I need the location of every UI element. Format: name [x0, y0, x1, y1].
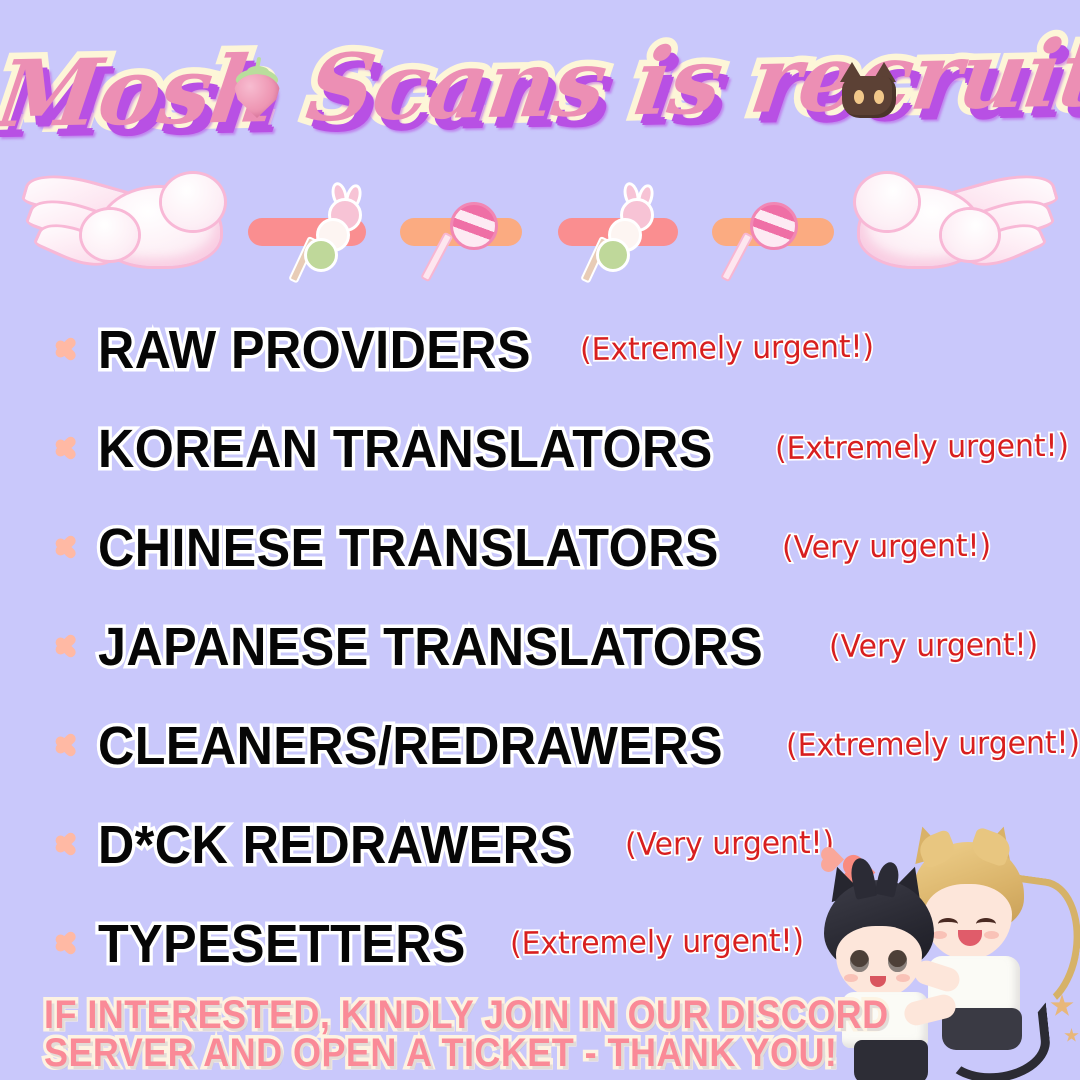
chevron-right-icon — [54, 924, 84, 964]
role-title: JAPANESE TRANSLATORS — [98, 619, 763, 675]
role-urgency: (Extremely urgent!) — [509, 923, 803, 960]
chevron-right-icon — [54, 330, 84, 370]
list-item: JAPANESE TRANSLATORS (Very urgent!) — [54, 597, 1054, 696]
header-banner: Mosh Scans is recruiting! — [0, 24, 1080, 164]
list-item: KOREAN TRANSLATORS (Extremely urgent!) — [54, 399, 1054, 498]
list-item: RAW PROVIDERS (Extremely urgent!) — [54, 300, 1054, 399]
role-urgency: (Extremely urgent!) — [786, 725, 1080, 762]
chevron-right-icon — [54, 627, 84, 667]
role-title: D*CK REDRAWERS — [98, 817, 573, 873]
lollipop-icon — [730, 194, 808, 280]
page-title: Mosh Scans is recruiting! — [0, 14, 1080, 155]
role-title: TYPESETTERS — [98, 916, 466, 972]
role-urgency: (Extremely urgent!) — [579, 329, 873, 366]
decorative-divider — [0, 162, 1080, 288]
role-title: RAW PROVIDERS — [98, 322, 531, 378]
role-urgency: (Extremely urgent!) — [775, 428, 1069, 465]
role-title: CHINESE TRANSLATORS — [98, 520, 719, 576]
winged-cloud-icon — [22, 168, 222, 280]
footer-line-2: SERVER AND OPEN A TICKET - THANK YOU! — [44, 1034, 836, 1072]
role-urgency: (Very urgent!) — [625, 825, 834, 861]
bunny-dango-icon — [292, 194, 366, 278]
footer-line-1: IF INTERESTED, KINDLY JOIN IN OUR DISCOR… — [44, 996, 836, 1034]
chevron-right-icon — [54, 726, 84, 766]
role-title: KOREAN TRANSLATORS — [98, 421, 713, 477]
list-item: CLEANERS/REDRAWERS (Extremely urgent!) — [54, 696, 1054, 795]
chevron-right-icon — [54, 528, 84, 568]
winged-cloud-icon — [858, 168, 1058, 280]
chevron-right-icon — [54, 825, 84, 865]
footer-callout: IF INTERESTED, KINDLY JOIN IN OUR DISCOR… — [0, 996, 880, 1072]
bunny-dango-icon — [584, 194, 658, 278]
strawberry-icon — [228, 54, 288, 120]
role-urgency: (Very urgent!) — [829, 627, 1038, 663]
recruitment-poster: Mosh Scans is recruiting! — [0, 0, 1080, 1080]
lollipop-icon — [430, 194, 508, 280]
star-icon — [1064, 1028, 1079, 1043]
role-title: CLEANERS/REDRAWERS — [98, 718, 723, 774]
pixel-cat-head-icon — [838, 62, 900, 120]
role-urgency: (Very urgent!) — [781, 528, 990, 564]
list-item: CHINESE TRANSLATORS (Very urgent!) — [54, 498, 1054, 597]
chevron-right-icon — [54, 429, 84, 469]
